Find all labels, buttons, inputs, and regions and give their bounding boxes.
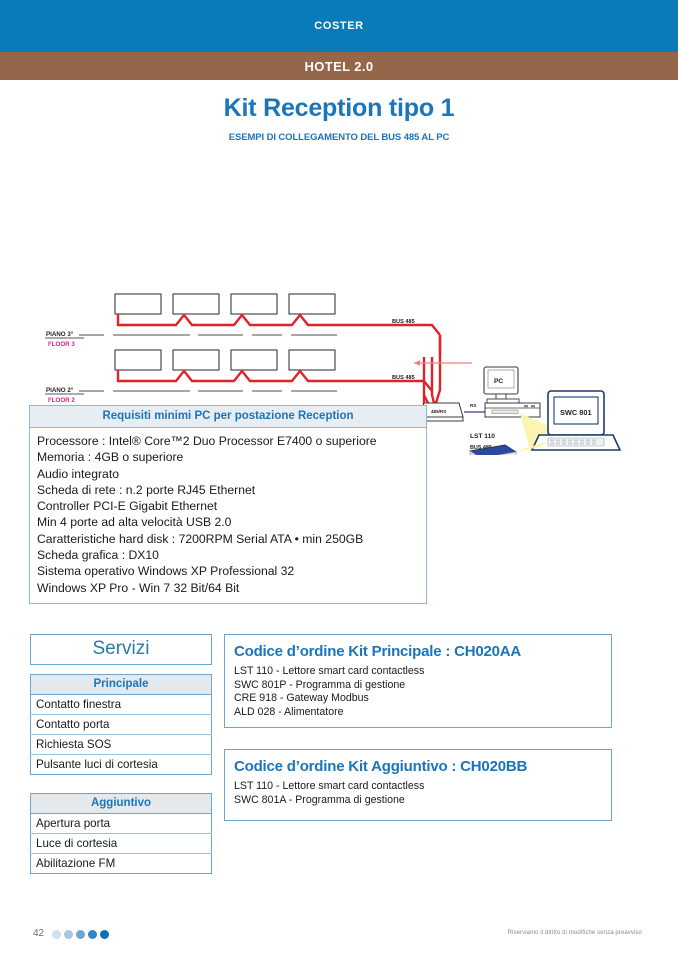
- order-code-box-aggiuntivo: Codice d’ordine Kit Aggiuntivo : CH020BB…: [224, 749, 612, 821]
- services-table-aggiuntivo: Aggiuntivo Apertura porta Luce di cortes…: [30, 793, 212, 874]
- requirement-line: Controller PCI-E Gigabit Ethernet: [37, 498, 419, 514]
- services-table-header: Aggiuntivo: [31, 794, 212, 814]
- pc-requirements-box: Requisiti minimi PC per postazione Recep…: [29, 405, 427, 604]
- requirement-line: Scheda grafica : DX10: [37, 547, 419, 563]
- requirement-line: Caratteristiche hard disk : 7200RPM Seri…: [37, 531, 419, 547]
- requirement-line: Audio integrato: [37, 466, 419, 482]
- brand-bar: COSTER: [0, 0, 678, 52]
- services-title: Servizi: [30, 634, 212, 665]
- table-row: Pulsante luci di cortesia: [31, 755, 212, 775]
- requirement-line: Min 4 porte ad alta velocità USB 2.0: [37, 514, 419, 530]
- page-title: Kit Reception tipo 1: [0, 94, 678, 123]
- svg-text:485/RS: 485/RS: [431, 409, 446, 414]
- pc-workstation: PC: [484, 367, 540, 417]
- progress-dot: [100, 930, 109, 939]
- service-item: Contatto finestra: [31, 695, 212, 715]
- page-footer: 42 Riserviamo il diritto di modifiche se…: [0, 925, 678, 949]
- rs-label: RS: [470, 403, 476, 408]
- table-row: Richiesta SOS: [31, 735, 212, 755]
- table-row: Contatto porta: [31, 715, 212, 735]
- svg-text:SWC 801: SWC 801: [560, 408, 592, 417]
- requirement-line: Memoria : 4GB o superiore: [37, 449, 419, 465]
- progress-dot: [88, 930, 97, 939]
- services-table-header: Principale: [31, 675, 212, 695]
- service-item: Pulsante luci di cortesia: [31, 755, 212, 775]
- requirement-line: Scheda di rete : n.2 porte RJ45 Ethernet: [37, 482, 419, 498]
- brand-title: COSTER: [314, 20, 363, 32]
- order-code-box-principale: Codice d’ordine Kit Principale : CH020AA…: [224, 634, 612, 728]
- wiring-diagram: BUS 485 PIANO 3° FLOOR 3 BUS 485 PIANO 2…: [0, 149, 678, 419]
- order-code-item: CRE 918 - Gateway Modbus: [234, 692, 602, 706]
- pc-requirements-list: Processore : Intel® Core™2 Duo Processor…: [30, 428, 426, 603]
- table-row: Apertura porta: [31, 814, 212, 834]
- progress-dot: [64, 930, 73, 939]
- progress-dot: [52, 930, 61, 939]
- order-code-item: ALD 028 - Alimentatore: [234, 706, 602, 720]
- order-code-title: Codice d’ordine Kit Aggiuntivo : CH020BB: [234, 758, 602, 775]
- reader-label: LST 110: [470, 433, 495, 440]
- service-item: Apertura porta: [31, 814, 212, 834]
- progress-dots: [52, 930, 109, 939]
- page-subtitle: ESEMPI DI COLLEGAMENTO DEL BUS 485 AL PC: [0, 132, 678, 143]
- table-row: Abilitazione FM: [31, 854, 212, 874]
- pc-requirements-title: Requisiti minimi PC per postazione Recep…: [30, 406, 426, 428]
- services-table-principale: Principale Contatto finestra Contatto po…: [30, 674, 212, 775]
- svg-text:PC: PC: [494, 378, 503, 385]
- order-code-item: SWC 801P - Programma di gestione: [234, 679, 602, 693]
- section-bar: HOTEL 2.0: [0, 52, 678, 80]
- page-number: 42: [33, 928, 44, 939]
- service-item: Abilitazione FM: [31, 854, 212, 874]
- progress-dot: [76, 930, 85, 939]
- order-code-item: LST 110 - Lettore smart card contactless: [234, 665, 602, 679]
- service-item: Richiesta SOS: [31, 735, 212, 755]
- table-row: Contatto finestra: [31, 695, 212, 715]
- requirement-line: Sistema operativo Windows XP Professiona…: [37, 563, 419, 579]
- footer-disclaimer: Riserviamo il diritto di modifiche senza…: [508, 930, 642, 936]
- table-row: Luce di cortesia: [31, 834, 212, 854]
- service-item: Luce di cortesia: [31, 834, 212, 854]
- requirement-line: Windows XP Pro - Win 7 32 Bit/64 Bit: [37, 580, 419, 596]
- section-title: HOTEL 2.0: [304, 59, 373, 74]
- order-code-title: Codice d’ordine Kit Principale : CH020AA: [234, 643, 602, 660]
- requirement-line: Processore : Intel® Core™2 Duo Processor…: [37, 433, 419, 449]
- order-code-item: SWC 801A - Programma di gestione: [234, 794, 602, 808]
- services-section: Servizi Principale Contatto finestra Con…: [30, 634, 212, 874]
- order-code-item: LST 110 - Lettore smart card contactless: [234, 780, 602, 794]
- service-item: Contatto porta: [31, 715, 212, 735]
- laptop-swc801: SWC 801: [532, 391, 620, 450]
